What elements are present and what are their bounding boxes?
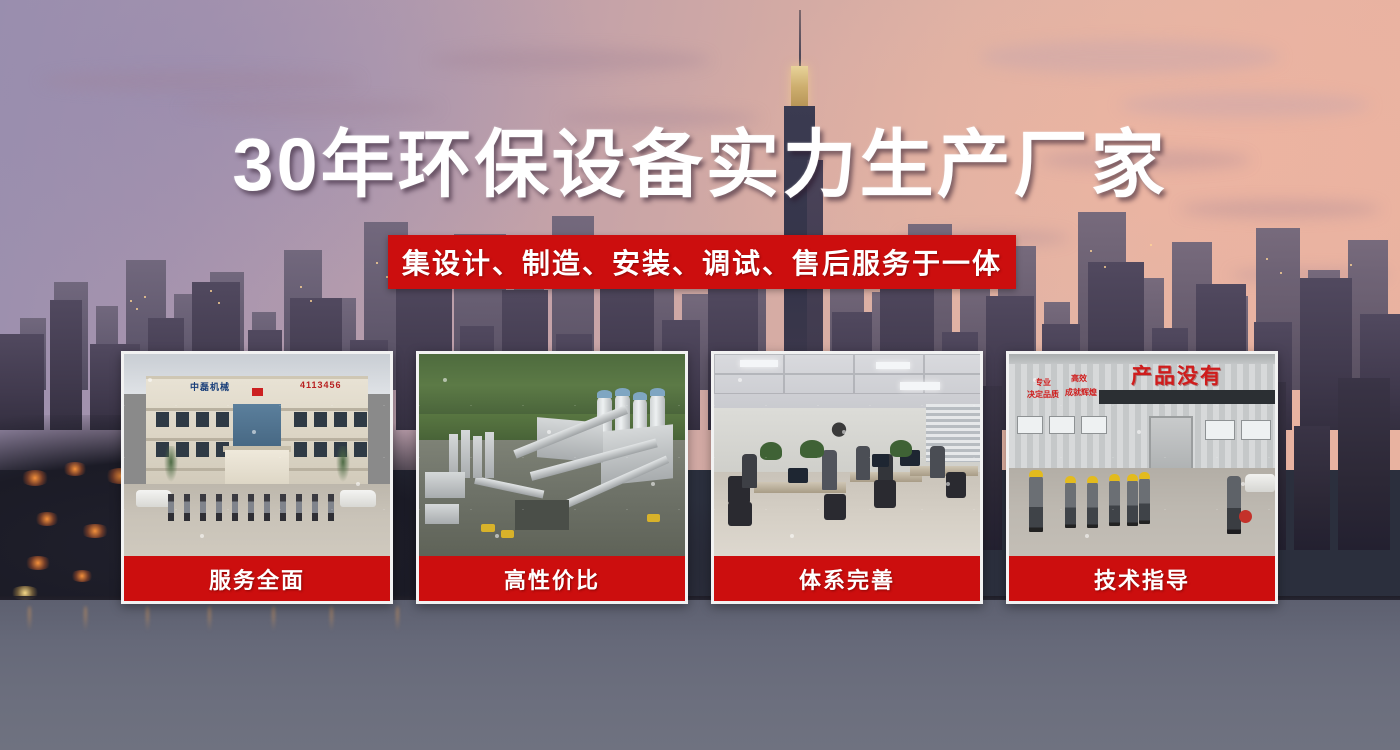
feature-card-row: 中磊机械 4113456 服务全面 bbox=[121, 351, 1278, 604]
wall-decal bbox=[822, 414, 856, 440]
feature-card-caption-bar: 体系完善 bbox=[714, 556, 980, 601]
factory-wall-slogan-small-4: 成就辉煌 bbox=[1065, 388, 1097, 398]
feature-card-system[interactable]: 体系完善 bbox=[711, 351, 983, 604]
photo-phone-sign: 4113456 bbox=[300, 380, 342, 390]
feature-card-caption-bar: 服务全面 bbox=[124, 556, 390, 601]
feature-card-caption-text: 体系完善 bbox=[799, 563, 895, 595]
photo-company-sign: 中磊机械 bbox=[190, 380, 230, 393]
banner-subtitle-bar: 集设计、制造、安装、调试、售后服务于一体 bbox=[388, 235, 1016, 289]
banner-headline: 30年环保设备实力生产厂家 bbox=[0, 128, 1400, 202]
factory-wall-slogan-small-1: 专业 bbox=[1035, 378, 1051, 388]
feature-card-guidance[interactable]: 产品没有 专业 高效 决定品质 成就辉煌 bbox=[1006, 351, 1278, 604]
aerial-industrial-plant-photo bbox=[419, 354, 685, 556]
banner-subtitle-text: 集设计、制造、安装、调试、售后服务于一体 bbox=[402, 242, 1002, 282]
feature-card-caption-text: 高性价比 bbox=[504, 563, 600, 595]
factory-wall-slogan: 产品没有 bbox=[1131, 360, 1223, 390]
feature-card-caption-text: 技术指导 bbox=[1094, 563, 1190, 595]
office-building-staff-photo: 中磊机械 4113456 bbox=[124, 354, 390, 556]
feature-card-caption-bar: 高性价比 bbox=[419, 556, 685, 601]
factory-wall-slogan-small-3: 决定品质 bbox=[1027, 390, 1059, 400]
factory-wall-slogan-small-2: 高效 bbox=[1071, 374, 1087, 384]
feature-card-service[interactable]: 中磊机械 4113456 服务全面 bbox=[121, 351, 393, 604]
feature-card-caption-text: 服务全面 bbox=[209, 563, 305, 595]
office-interior-staff-photo bbox=[714, 354, 980, 556]
feature-card-value[interactable]: 高性价比 bbox=[416, 351, 688, 604]
factory-yard-workers-photo: 产品没有 专业 高效 决定品质 成就辉煌 bbox=[1009, 354, 1275, 556]
feature-card-caption-bar: 技术指导 bbox=[1009, 556, 1275, 601]
promo-banner: 30年环保设备实力生产厂家 集设计、制造、安装、调试、售后服务于一体 bbox=[0, 0, 1400, 750]
